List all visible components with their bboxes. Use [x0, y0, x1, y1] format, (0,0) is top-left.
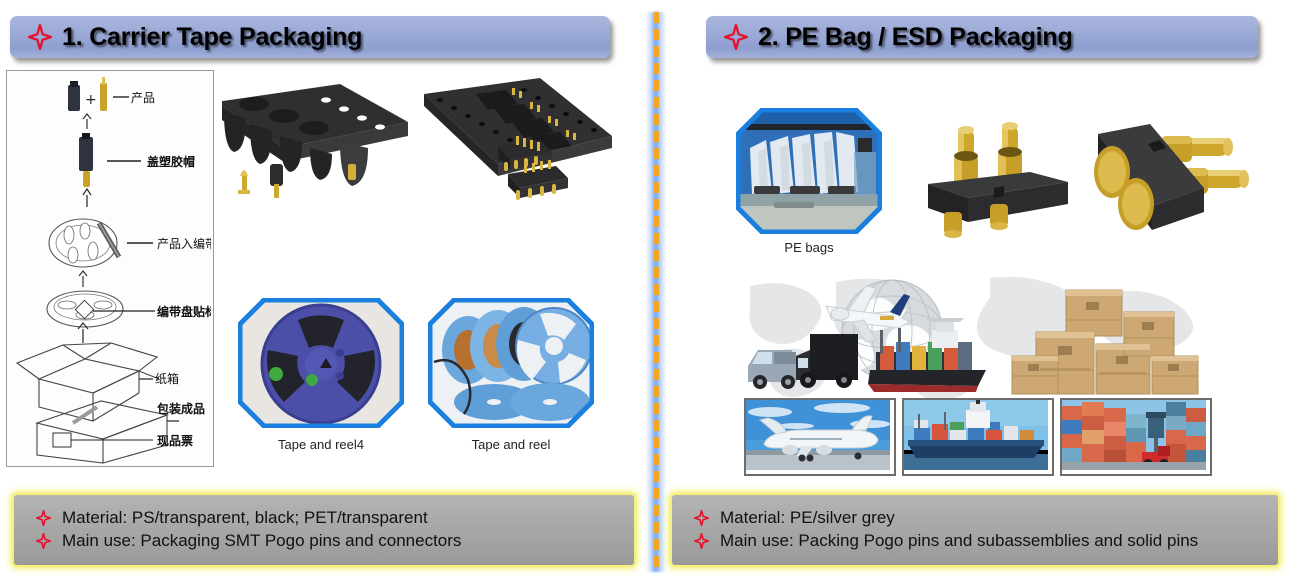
caption-text: Main use: Packing Pogo pins and subassem… [720, 531, 1198, 551]
svg-text:纸箱: 纸箱 [155, 371, 179, 386]
caption-text: Main use: Packaging SMT Pogo pins and co… [62, 531, 461, 551]
red-diamond-star-icon [694, 533, 709, 549]
pogo-pin-connector-angled-photo [1080, 108, 1266, 244]
svg-text:编带盘贴标识: 编带盘贴标识 [156, 304, 211, 319]
pe-bags-caption: PE bags [736, 240, 882, 255]
caption-bar-carrier-tape: Material: PS/transparent, black; PET/tra… [14, 495, 634, 565]
carrier-tape-process-diagram: + 产品 盖塑胶帽 [6, 70, 214, 467]
red-diamond-star-icon [724, 24, 748, 50]
caption-row: Material: PE/silver grey [672, 508, 1278, 528]
container-yard-photo [1060, 398, 1212, 476]
svg-text:产品: 产品 [131, 91, 155, 105]
svg-text:产品入编带盘: 产品入编带盘 [157, 236, 211, 251]
caption-bar-pe-bag-esd: Material: PE/silver grey Main use: Packi… [672, 495, 1278, 565]
panel-header-carrier-tape: 1. Carrier Tape Packaging [10, 16, 610, 58]
caption-row: Main use: Packing Pogo pins and subassem… [672, 531, 1278, 551]
panel-carrier-tape: 1. Carrier Tape Packaging + 产品 [0, 0, 650, 584]
global-logistics-photo [740, 272, 1210, 400]
tape-reels-stack-caption: Tape and reel [428, 437, 594, 452]
red-diamond-star-icon [694, 510, 709, 526]
red-diamond-star-icon [28, 24, 52, 50]
pe-bags-bin-photo [736, 108, 882, 234]
air-freight-photo [744, 398, 896, 476]
sea-freight-photo [902, 398, 1054, 476]
panel-title: 1. Carrier Tape Packaging [62, 23, 362, 52]
red-diamond-star-icon [36, 533, 51, 549]
tape-reel-front-photo [238, 298, 404, 428]
caption-row: Main use: Packaging SMT Pogo pins and co… [14, 531, 634, 551]
tape-reel-front-caption: Tape and reel4 [238, 437, 404, 452]
caption-row: Material: PS/transparent, black; PET/tra… [14, 508, 634, 528]
svg-text:盖塑胶帽: 盖塑胶帽 [147, 154, 195, 169]
panel-pe-bag-esd: 2. PE Bag / ESD Packaging [658, 0, 1303, 584]
panel-title: 2. PE Bag / ESD Packaging [758, 23, 1073, 52]
svg-text:现品票: 现品票 [157, 434, 193, 448]
svg-text:包装成品: 包装成品 [156, 401, 205, 416]
carrier-tape-pockets-photo [222, 78, 414, 200]
caption-text: Material: PE/silver grey [720, 508, 895, 528]
panel-header-pe-bag-esd: 2. PE Bag / ESD Packaging [706, 16, 1258, 58]
pogo-pin-connector-pair-photo [920, 112, 1080, 240]
tape-reels-stack-photo [428, 298, 594, 428]
carrier-tape-connectors-photo [420, 78, 616, 228]
caption-text: Material: PS/transparent, black; PET/tra… [62, 508, 428, 528]
svg-text:+: + [85, 92, 97, 108]
red-diamond-star-icon [36, 510, 51, 526]
